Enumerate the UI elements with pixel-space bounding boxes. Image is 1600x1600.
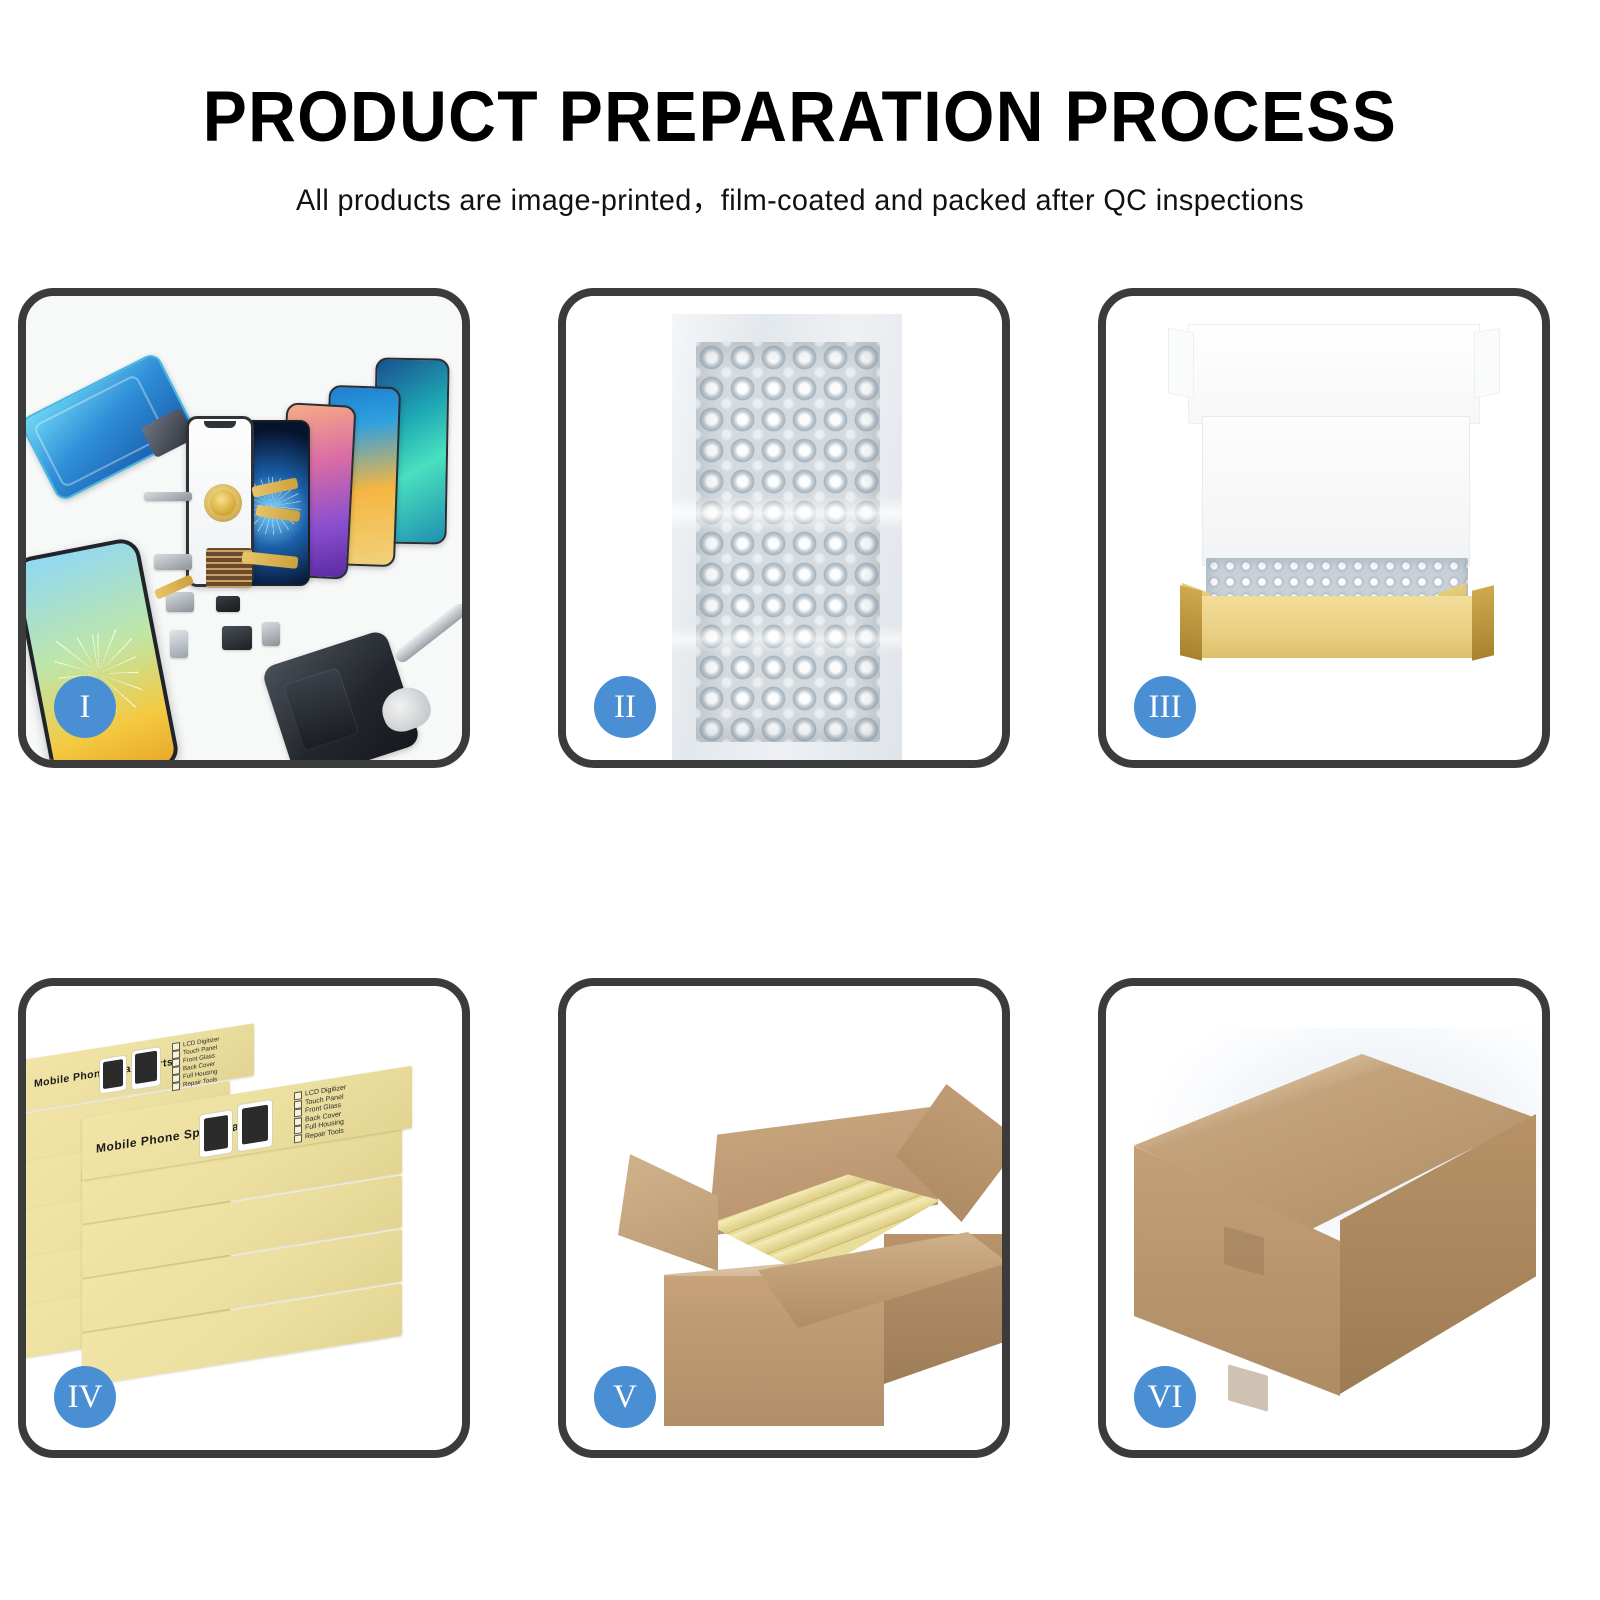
step-badge-3: III <box>1134 676 1196 738</box>
step-badge-6: VI <box>1134 1366 1196 1428</box>
page-title: PRODUCT PREPARATION PROCESS <box>56 0 1544 153</box>
stacked-box-printed: Mobile Phone Spare Parts LCD Digitizer T… <box>82 1118 412 1194</box>
camera-module-graphic <box>216 596 240 612</box>
tweezers-tool-graphic <box>393 601 462 665</box>
wireless-coil-graphic <box>204 484 242 522</box>
step-badge-1: I <box>54 676 116 738</box>
small-part-graphic <box>166 592 194 612</box>
step-badge-2: II <box>594 676 656 738</box>
process-step-card-5: V <box>558 978 1010 1458</box>
mailer-front-wall-graphic <box>1194 596 1480 658</box>
small-part-graphic <box>154 554 192 570</box>
step-badge-5: V <box>594 1366 656 1428</box>
vibration-motor-graphic <box>262 622 280 646</box>
process-step-card-4: Mobile Phone Spare Parts LCD Digitizer T… <box>18 978 470 1458</box>
speaker-mesh-graphic <box>144 492 192 501</box>
process-step-card-1: I <box>18 288 470 768</box>
film-highlight-graphic <box>672 496 902 530</box>
process-step-card-2: II <box>558 288 1010 768</box>
page-subtitle: All products are image-printed，film-coat… <box>32 153 1568 219</box>
bubble-wrapped-item-graphic <box>696 342 880 742</box>
stacked-box <box>82 1334 402 1404</box>
mailer-back-wall-graphic <box>1202 416 1470 566</box>
process-step-card-3: III <box>1098 288 1550 768</box>
sim-tray-graphic <box>170 630 188 658</box>
process-steps-grid: I II III <box>18 288 1590 1468</box>
taptic-engine-graphic <box>222 626 252 650</box>
page-header: PRODUCT PREPARATION PROCESS All products… <box>0 0 1600 219</box>
process-step-card-6: VI <box>1098 978 1550 1458</box>
film-highlight-graphic <box>672 626 902 652</box>
step-badge-4: IV <box>54 1366 116 1428</box>
mailer-lid-graphic <box>1188 324 1480 424</box>
carton-tape-tab-graphic <box>1228 1364 1268 1411</box>
